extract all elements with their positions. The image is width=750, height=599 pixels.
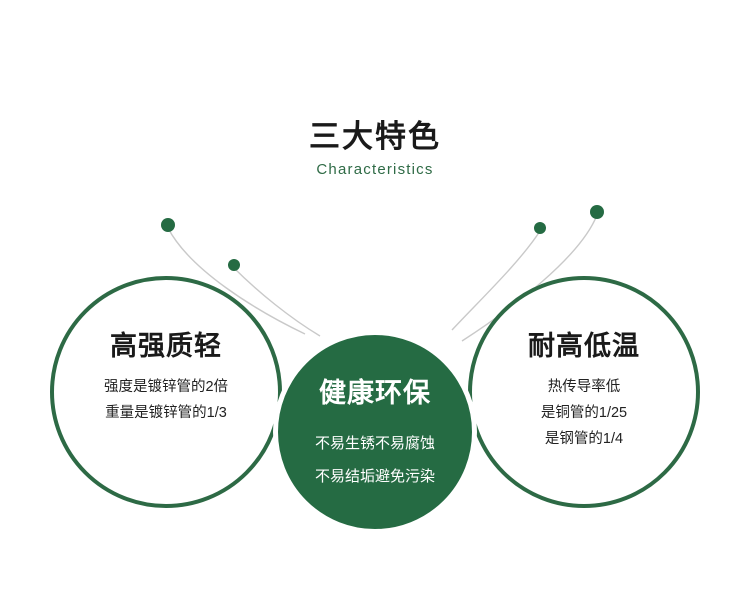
feature-left-line-1: 强度是镀锌管的2倍 <box>104 374 228 400</box>
feature-circle-left: 高强质轻 强度是镀锌管的2倍 重量是镀锌管的1/3 <box>50 276 282 508</box>
feature-center-heading: 健康环保 <box>319 377 431 409</box>
infographic-canvas: 三大特色 Characteristics 高强质轻 强度是镀锌管的2倍 重量是镀… <box>0 0 750 599</box>
page-subtitle: Characteristics <box>0 160 750 180</box>
title-block: 三大特色 Characteristics <box>0 118 750 180</box>
feature-left-heading: 高强质轻 <box>110 330 222 362</box>
feature-right-line-1: 热传导率低 <box>541 374 627 400</box>
connector-dot-1 <box>161 218 175 232</box>
connector-dot-4 <box>590 205 604 219</box>
feature-circle-right: 耐高低温 热传导率低 是铜管的1/25 是钢管的1/4 <box>468 276 700 508</box>
feature-center-line-2: 不易结垢避免污染 <box>315 460 435 493</box>
feature-center-lines: 不易生锈不易腐蚀 不易结垢避免污染 <box>315 427 435 493</box>
feature-left-lines: 强度是镀锌管的2倍 重量是镀锌管的1/3 <box>104 374 228 426</box>
feature-right-lines: 热传导率低 是铜管的1/25 是钢管的1/4 <box>541 374 627 452</box>
feature-right-line-2: 是铜管的1/25 <box>541 400 627 426</box>
connector-dot-2 <box>228 259 240 271</box>
feature-circle-center: 健康环保 不易生锈不易腐蚀 不易结垢避免污染 <box>273 330 477 534</box>
feature-right-line-3: 是钢管的1/4 <box>541 426 627 452</box>
page-title: 三大特色 <box>0 118 750 156</box>
connector-dot-3 <box>534 222 546 234</box>
feature-left-line-2: 重量是镀锌管的1/3 <box>104 400 228 426</box>
feature-center-line-1: 不易生锈不易腐蚀 <box>315 427 435 460</box>
feature-right-heading: 耐高低温 <box>528 330 640 362</box>
